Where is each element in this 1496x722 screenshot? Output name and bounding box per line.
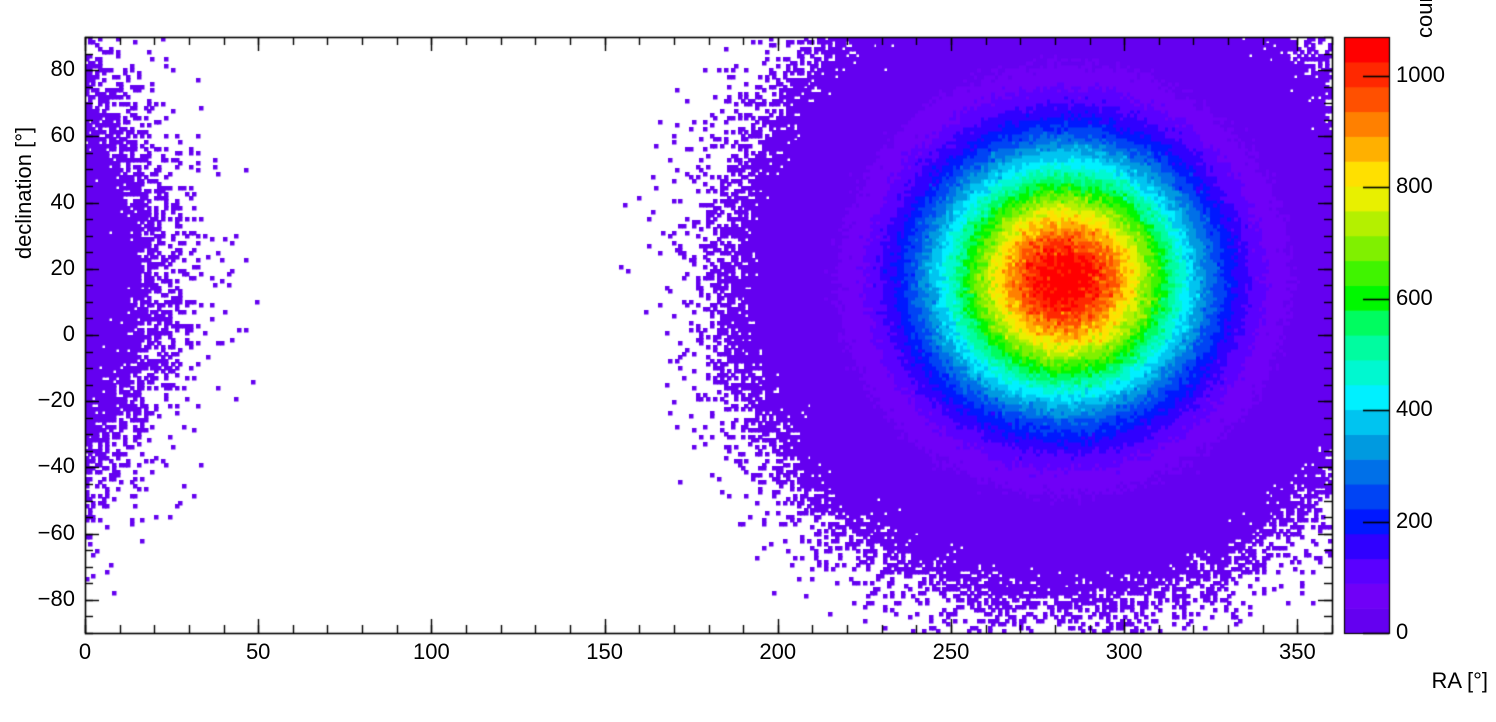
y-tick-label: 40 xyxy=(0,189,75,215)
z-tick-label: 200 xyxy=(1396,508,1433,534)
z-axis-title: count xyxy=(1412,0,1438,38)
x-tick-label: 150 xyxy=(565,639,645,665)
z-tick-label: 600 xyxy=(1396,285,1433,311)
histogram-plot xyxy=(0,0,1496,722)
x-tick-label: 50 xyxy=(218,639,298,665)
y-tick-label: 60 xyxy=(0,122,75,148)
z-tick-label: 800 xyxy=(1396,173,1433,199)
y-tick-label: 0 xyxy=(0,321,75,347)
x-tick-label: 0 xyxy=(45,639,125,665)
chart-canvas-area: Dec vs RA (AngleFitStatus==0) declinatio… xyxy=(0,0,1496,722)
x-tick-label: 250 xyxy=(911,639,991,665)
x-tick-label: 350 xyxy=(1257,639,1337,665)
z-tick-label: 400 xyxy=(1396,396,1433,422)
z-tick-label: 0 xyxy=(1396,619,1408,645)
x-tick-label: 200 xyxy=(738,639,818,665)
y-tick-label: −60 xyxy=(0,520,75,546)
y-tick-label: −20 xyxy=(0,387,75,413)
y-tick-label: 20 xyxy=(0,255,75,281)
y-tick-label: 80 xyxy=(0,56,75,82)
x-tick-label: 300 xyxy=(1084,639,1164,665)
x-axis-title: RA [°] xyxy=(1432,668,1488,694)
y-tick-label: −40 xyxy=(0,453,75,479)
z-tick-label: 1000 xyxy=(1396,62,1445,88)
y-tick-label: −80 xyxy=(0,586,75,612)
x-tick-label: 100 xyxy=(391,639,471,665)
